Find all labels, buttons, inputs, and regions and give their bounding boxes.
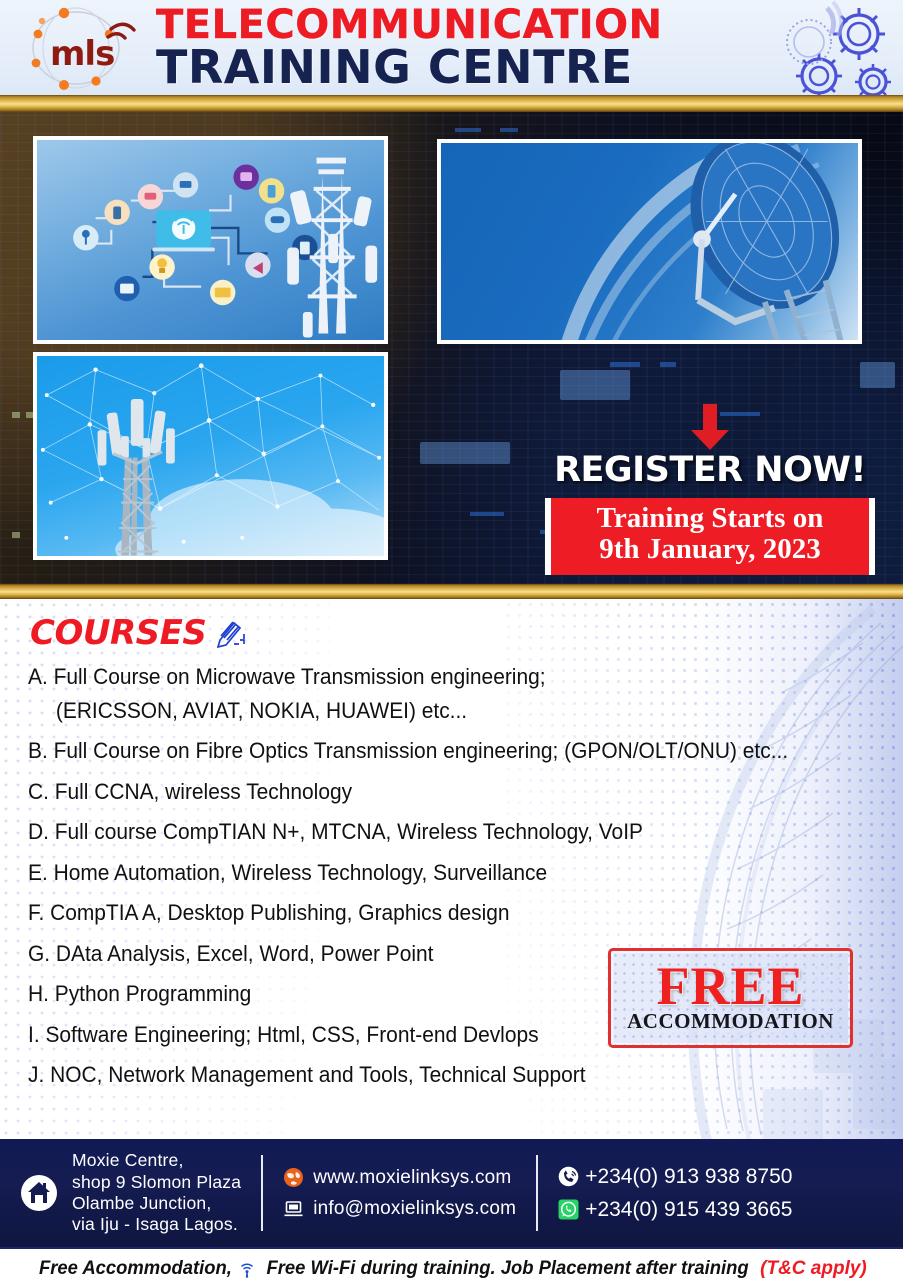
web-block: www.moxielinksys.com info@moxielinksys.c… (283, 1167, 516, 1220)
mls-logo: mls (12, 3, 152, 93)
address-line-1: Moxie Centre, (72, 1150, 241, 1171)
pen-icon (214, 616, 248, 650)
start-line-1: Training Starts on (557, 503, 863, 534)
phone-text: +234(0) 913 938 8750 (585, 1165, 792, 1189)
courses-section: COURSES A. Full Course on Microwave Tran… (0, 599, 903, 1139)
footer-divider-1 (261, 1155, 263, 1231)
phone-block: +234(0) 913 938 8750 +234(0) 915 439 366… (558, 1165, 792, 1222)
course-item: F. CompTIA A, Desktop Publishing, Graphi… (28, 893, 842, 934)
flyer-page: mls TELECOMMUNICATION TRAINING CENTRE (0, 0, 903, 1280)
address-line-4: via Iju - Isaga Lagos. (72, 1214, 241, 1235)
whatsapp-text: +234(0) 915 439 3665 (585, 1198, 792, 1222)
tagline-terms: (T&C apply) (760, 1258, 867, 1280)
whatsapp-row[interactable]: +234(0) 915 439 3665 (558, 1198, 792, 1222)
tagline-part-2: Free Wi-Fi during training. Job Placemen… (267, 1258, 749, 1280)
title-telecommunication: TELECOMMUNICATION (156, 6, 663, 44)
email-text: info@moxielinksys.com (313, 1198, 516, 1220)
courses-heading: COURSES (30, 613, 903, 653)
course-item: J. NOC, Network Management and Tools, Te… (28, 1055, 842, 1096)
cell-tower-graphic (37, 140, 384, 343)
wifi-icon (239, 1260, 255, 1278)
phone-row[interactable]: +234(0) 913 938 8750 (558, 1165, 792, 1189)
arrow-down-icon (545, 404, 875, 452)
email-row[interactable]: info@moxielinksys.com (283, 1198, 516, 1220)
course-item: D. Full course CompTIAN N+, MTCNA, Wirel… (28, 812, 842, 853)
whatsapp-icon (558, 1199, 579, 1220)
laptop-mail-icon (283, 1198, 304, 1219)
tagline-part-1: Free Accommodation, (39, 1258, 232, 1280)
phone-ring-icon (558, 1166, 579, 1187)
tagline-bar: Free Accommodation, Free Wi-Fi during tr… (0, 1247, 903, 1280)
free-accommodation-stamp: FREE ACCOMMODATION (608, 948, 853, 1048)
course-item: C. Full CCNA, wireless Technology (28, 772, 842, 813)
page-title: TELECOMMUNICATION TRAINING CENTRE (156, 6, 663, 89)
home-icon (20, 1174, 58, 1212)
photo-cell-tower-sky (33, 352, 388, 560)
photo-satellite-dish (437, 139, 862, 344)
page-header: mls TELECOMMUNICATION TRAINING CENTRE (0, 0, 903, 95)
training-start-banner: Training Starts on 9th January, 2023 (545, 498, 875, 575)
courses-heading-text: COURSES (30, 613, 206, 653)
address-block: Moxie Centre, shop 9 Slomon Plaza Olambe… (20, 1150, 241, 1235)
address-line-3: Olambe Junction, (72, 1193, 241, 1214)
gold-divider-bottom (0, 584, 903, 599)
photo-collage: REGISTER NOW! Training Starts on 9th Jan… (0, 112, 903, 584)
course-item: (ERICSSON, AVIAT, NOKIA, HUAWEI) etc... (28, 698, 842, 732)
register-block: REGISTER NOW! Training Starts on 9th Jan… (545, 404, 875, 575)
contact-footer: Moxie Centre, shop 9 Slomon Plaza Olambe… (0, 1139, 903, 1247)
title-training-centre: TRAINING CENTRE (156, 45, 663, 89)
course-item: A. Full Course on Microwave Transmission… (28, 657, 842, 698)
tower-silhouette-graphic (37, 356, 384, 559)
logo-wordmark: mls (12, 3, 152, 93)
gold-divider-top (0, 95, 903, 112)
course-item: B. Full Course on Fibre Optics Transmiss… (28, 731, 842, 772)
start-line-2: 9th January, 2023 (557, 534, 863, 565)
footer-divider-2 (536, 1155, 538, 1231)
address-text: Moxie Centre, shop 9 Slomon Plaza Olambe… (72, 1150, 241, 1235)
satellite-dish-graphic (441, 143, 858, 344)
register-now-headline: REGISTER NOW! (545, 450, 875, 490)
gears-icon (775, 0, 903, 95)
svg-text:mls: mls (50, 34, 114, 74)
photo-iot-network (33, 136, 388, 344)
stamp-accommodation-text: ACCOMMODATION (627, 1009, 834, 1034)
stamp-free-text: FREE (656, 962, 804, 1012)
course-item: E. Home Automation, Wireless Technology,… (28, 853, 842, 894)
website-text: www.moxielinksys.com (313, 1167, 511, 1189)
globe-icon (283, 1167, 304, 1188)
address-line-2: shop 9 Slomon Plaza (72, 1172, 241, 1193)
website-row[interactable]: www.moxielinksys.com (283, 1167, 511, 1189)
